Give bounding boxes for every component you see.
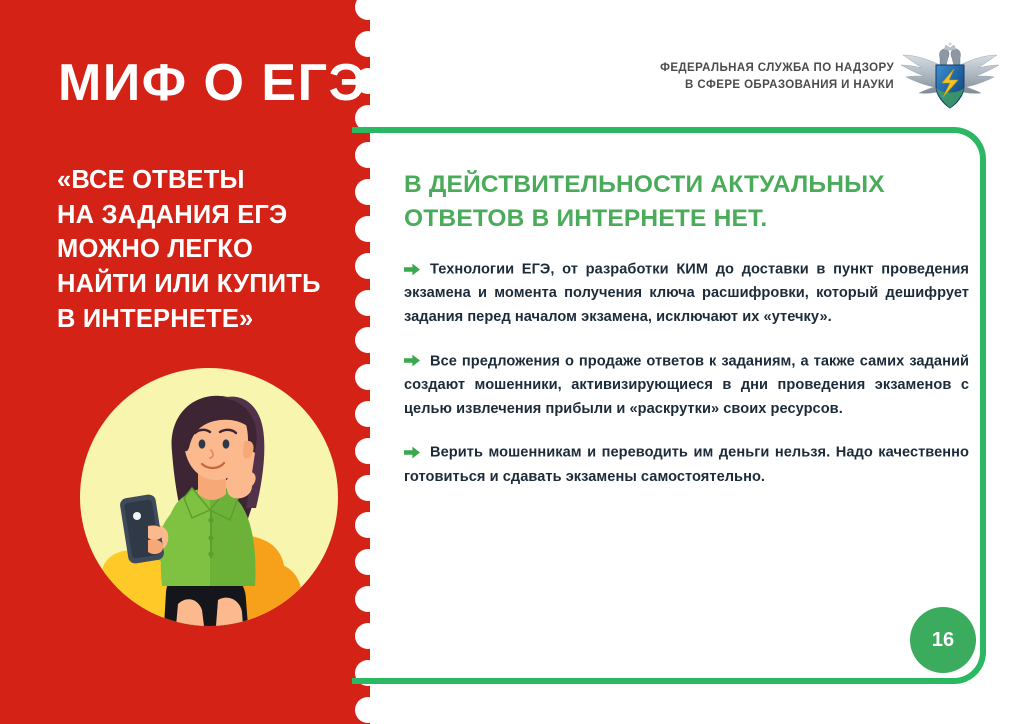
list-item: Технологии ЕГЭ, от разработки КИМ до дос… bbox=[404, 258, 969, 330]
myth-claim-line: В ИНТЕРНЕТЕ» bbox=[57, 302, 357, 337]
fact-heading-line-1: В ДЕЙСТВИТЕЛЬНОСТИ АКТУАЛЬНЫХ bbox=[404, 168, 904, 202]
organization-line-1: ФЕДЕРАЛЬНАЯ СЛУЖБА ПО НАДЗОРУ bbox=[612, 60, 894, 77]
green-frame-left-top-stub bbox=[352, 127, 376, 133]
girl-with-smartphone-illustration bbox=[80, 368, 338, 626]
rosobrnadzor-emblem-icon bbox=[898, 42, 1002, 116]
list-item: Верить мошенникам и переводить им деньги… bbox=[404, 441, 969, 489]
bullet-text: Верить мошенникам и переводить им деньги… bbox=[404, 445, 969, 485]
fact-heading: В ДЕЙСТВИТЕЛЬНОСТИ АКТУАЛЬНЫХ ОТВЕТОВ В … bbox=[404, 168, 904, 237]
organization-line-2: В СФЕРЕ ОБРАЗОВАНИЯ И НАУКИ bbox=[612, 77, 894, 94]
myth-claim-line: МОЖНО ЛЕГКО bbox=[57, 232, 357, 267]
green-frame-left-bottom-stub bbox=[352, 678, 376, 684]
fact-heading-line-2: ОТВЕТОВ В ИНТЕРНЕТЕ НЕТ. bbox=[404, 202, 904, 236]
arrow-right-icon bbox=[404, 441, 426, 465]
myth-claim-line: НА ЗАДАНИЯ ЕГЭ bbox=[57, 198, 357, 233]
page-title: МИФ О ЕГЭ bbox=[58, 56, 367, 111]
bullet-text: Технологии ЕГЭ, от разработки КИМ до дос… bbox=[404, 262, 969, 325]
arrow-right-icon bbox=[404, 258, 426, 282]
arrow-right-icon bbox=[404, 350, 426, 374]
myth-panel: МИФ О ЕГЭ «ВСЕ ОТВЕТЫ НА ЗАДАНИЯ ЕГЭ МОЖ… bbox=[0, 0, 370, 724]
myth-claim-text: «ВСЕ ОТВЕТЫ НА ЗАДАНИЯ ЕГЭ МОЖНО ЛЕГКО Н… bbox=[57, 163, 357, 336]
page-number-badge: 16 bbox=[910, 607, 976, 673]
bullet-text: Все предложения о продаже ответов к зада… bbox=[404, 353, 969, 416]
myth-claim-line: НАЙТИ ИЛИ КУПИТЬ bbox=[57, 267, 357, 302]
list-item: Все предложения о продаже ответов к зада… bbox=[404, 350, 969, 422]
myth-claim-line: «ВСЕ ОТВЕТЫ bbox=[57, 163, 357, 198]
fact-bullet-list: Технологии ЕГЭ, от разработки КИМ до дос… bbox=[404, 258, 969, 509]
organization-header: ФЕДЕРАЛЬНАЯ СЛУЖБА ПО НАДЗОРУ В СФЕРЕ ОБ… bbox=[612, 60, 894, 95]
